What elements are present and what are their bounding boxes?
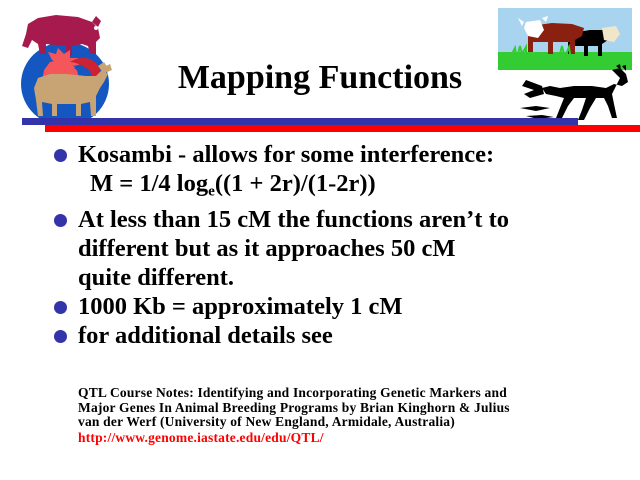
citation-line-2: Major Genes In Animal Breeding Programs … bbox=[78, 401, 633, 416]
divider-bar-blue bbox=[22, 118, 578, 125]
bullet-item-interference: At less than 15 cM the functions aren’t … bbox=[50, 205, 610, 234]
kosambi-formula: M = 1/4 loge((1 + 2r)/(1-2r)) bbox=[50, 169, 610, 205]
citation-line-3: van der Werf (University of New England,… bbox=[78, 415, 633, 430]
bullet-text-interference-line3: quite different. bbox=[50, 263, 610, 292]
bullet-dot-icon bbox=[54, 330, 67, 343]
formula-prefix: M = 1/4 log bbox=[90, 170, 208, 197]
page-title: Mapping Functions bbox=[0, 58, 640, 98]
bullet-text-kb-cm: 1000 Kb = approximately 1 cM bbox=[78, 292, 610, 321]
bullet-item-details: for additional details see bbox=[50, 321, 610, 350]
citation-url-link[interactable]: http://www.genome.iastate.edu/edu/QTL/ bbox=[78, 430, 633, 446]
formula-suffix: ((1 + 2r)/(1-2r)) bbox=[215, 170, 376, 197]
bullet-item-kb-cm: 1000 Kb = approximately 1 cM bbox=[50, 292, 610, 321]
bullet-text-kosambi: Kosambi - allows for some interference: bbox=[78, 140, 610, 169]
bullet-dot-icon bbox=[54, 149, 67, 162]
bullet-text-interference-line2: different but as it approaches 50 cM bbox=[50, 234, 610, 263]
bullet-text-interference: At less than 15 cM the functions aren’t … bbox=[78, 205, 610, 234]
citation-line-1: QTL Course Notes: Identifying and Incorp… bbox=[78, 386, 633, 401]
bullet-dot-icon bbox=[54, 301, 67, 314]
bullet-dot-icon bbox=[54, 214, 67, 227]
bullet-list: Kosambi - allows for some interference: … bbox=[50, 140, 610, 350]
slide-canvas: Mapping Functions Kosambi - allows for s… bbox=[0, 0, 640, 480]
bullet-text-details: for additional details see bbox=[78, 321, 610, 350]
citation-block: QTL Course Notes: Identifying and Incorp… bbox=[78, 386, 633, 446]
formula-subscript: e bbox=[208, 182, 215, 199]
divider-bar-red bbox=[45, 125, 640, 132]
bullet-item-kosambi: Kosambi - allows for some interference: bbox=[50, 140, 610, 169]
